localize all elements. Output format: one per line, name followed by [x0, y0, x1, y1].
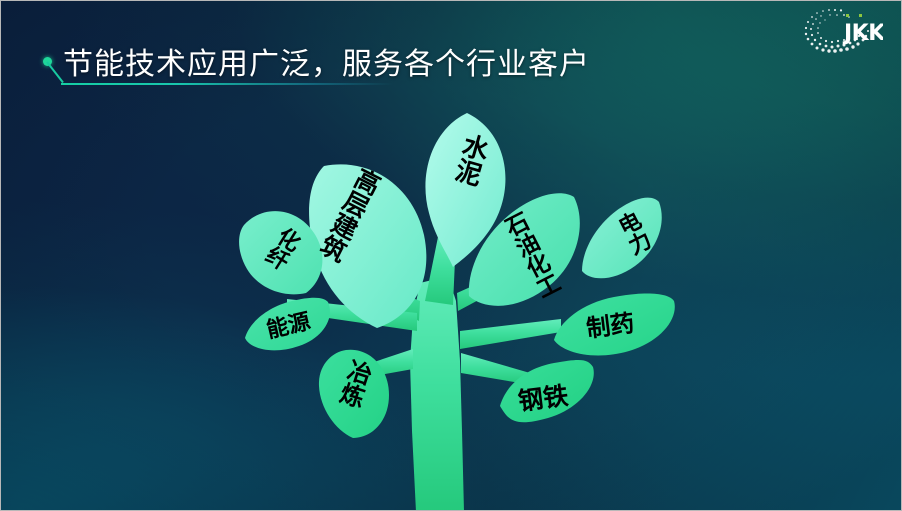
leaf-power: [582, 198, 662, 279]
leaf-pharma: [554, 294, 675, 356]
slide-canvas: 节能技术应用广泛，服务各个行业客户: [0, 0, 902, 511]
tree-graphic: [1, 1, 902, 511]
leaf-energy: [245, 298, 330, 351]
